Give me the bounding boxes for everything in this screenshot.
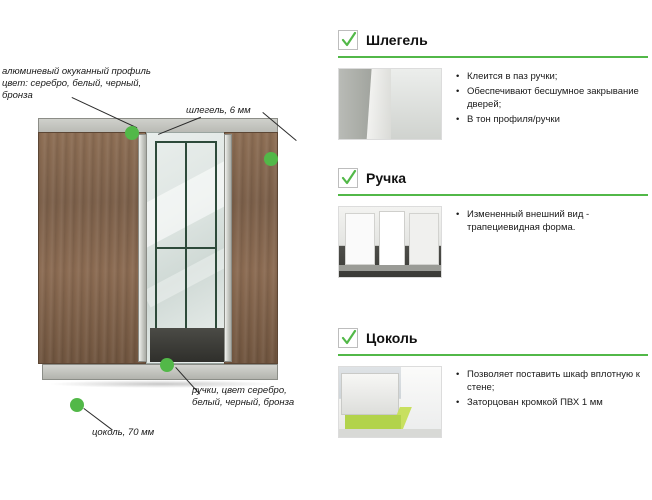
callout-aluminium-profile: алюминевый окуканный профиль цвет: сереб…: [2, 66, 172, 102]
callout-aluminium-profile-line-1: алюминевый окуканный профиль: [2, 66, 172, 78]
callout-dot-handles: [160, 358, 174, 372]
callout-handles: ручки, цвет серебро, белый, черный, брон…: [192, 385, 322, 409]
wardrobe-body: [38, 118, 278, 376]
bullet-item: Обеспечивают бесшумное закрывание дверей…: [467, 85, 648, 111]
feature-body-plinth: Позволяет поставить шкаф вплотную к стен…: [338, 356, 648, 438]
feature-body-handle: Измененный внешний вид - трапециевидная …: [338, 196, 648, 278]
plinth-photo-wall: [401, 367, 442, 431]
infographic-page: алюминевый окуканный профиль цвет: сереб…: [0, 0, 652, 500]
feature-header-plinth: Цоколь: [338, 328, 648, 356]
feature-bullets-shlegel: Клеится в паз ручки; Обеспечивают бесшум…: [454, 68, 648, 140]
callout-handles-line-1: ручки, цвет серебро,: [192, 385, 322, 397]
feature-body-shlegel: Клеится в паз ручки; Обеспечивают бесшум…: [338, 58, 648, 140]
wardrobe-drawing: [38, 118, 278, 390]
callout-dot-profile: [125, 126, 139, 140]
features-panel: Шлегель Клеится в паз ручки; Обеспечиваю…: [330, 0, 652, 500]
feature-card-shlegel: Шлегель Клеится в паз ручки; Обеспечиваю…: [338, 30, 648, 140]
wardrobe-handle-middle: [224, 134, 232, 362]
plinth-photo-cabinet: [341, 373, 399, 415]
handle-photo-panel-3: [409, 213, 439, 265]
feature-bullets-handle: Измененный внешний вид - трапециевидная …: [454, 206, 648, 278]
shlegel-photo-part-4: [391, 69, 442, 140]
feature-title-plinth: Цоколь: [366, 330, 417, 346]
callout-dot-shlegel: [264, 152, 278, 166]
handle-photo-rail: [339, 265, 442, 271]
callout-shlegel: шлегель, 6 мм: [186, 105, 316, 117]
bullet-item: Позволяет поставить шкаф вплотную к стен…: [467, 368, 648, 394]
feature-title-handle: Ручка: [366, 170, 406, 186]
callout-plinth-line-1: цоколь, 70 мм: [92, 427, 222, 439]
shlegel-photo: [338, 68, 442, 140]
check-icon: [338, 168, 358, 188]
check-icon: [338, 30, 358, 50]
wardrobe-door-right: [224, 132, 278, 364]
wardrobe-handle-left: [138, 134, 147, 362]
handle-photo-panel-1: [345, 213, 375, 265]
bullet-item: Измененный внешний вид - трапециевидная …: [467, 208, 648, 234]
wardrobe-interior-shadow: [150, 328, 224, 362]
handle-photo-panel-2: [379, 211, 405, 267]
feature-title-shlegel: Шлегель: [366, 32, 428, 48]
callout-dot-plinth: [70, 398, 84, 412]
handle-photo: [338, 206, 442, 278]
callout-plinth: цоколь, 70 мм: [92, 427, 222, 439]
feature-header-handle: Ручка: [338, 168, 648, 196]
plinth-photo-floor: [339, 429, 442, 438]
bullet-item: В тон профиля/ручки: [467, 113, 648, 126]
wardrobe-door-left: [38, 132, 146, 364]
plinth-photo-highlight: [345, 415, 401, 429]
feature-card-plinth: Цоколь Позволяет поставить шкаф вплотную…: [338, 328, 648, 438]
callout-shlegel-line-1: шлегель, 6 мм: [186, 105, 316, 117]
bullet-item: Клеится в паз ручки;: [467, 70, 648, 83]
feature-card-handle: Ручка Измененный внешний вид - трапециев…: [338, 168, 648, 278]
callout-aluminium-profile-line-2: цвет: серебро, белый, черный, бронза: [2, 78, 172, 102]
check-icon: [338, 328, 358, 348]
feature-bullets-plinth: Позволяет поставить шкаф вплотную к стен…: [454, 366, 648, 438]
callout-handles-line-2: белый, черный, бронза: [192, 397, 322, 409]
mirror-grid-frame: [155, 141, 217, 355]
feature-header-shlegel: Шлегель: [338, 30, 648, 58]
bullet-item: Заторцован кромкой ПВХ 1 мм: [467, 396, 648, 409]
plinth-photo: [338, 366, 442, 438]
wardrobe-illustration-panel: алюминевый окуканный профиль цвет: сереб…: [0, 0, 330, 500]
